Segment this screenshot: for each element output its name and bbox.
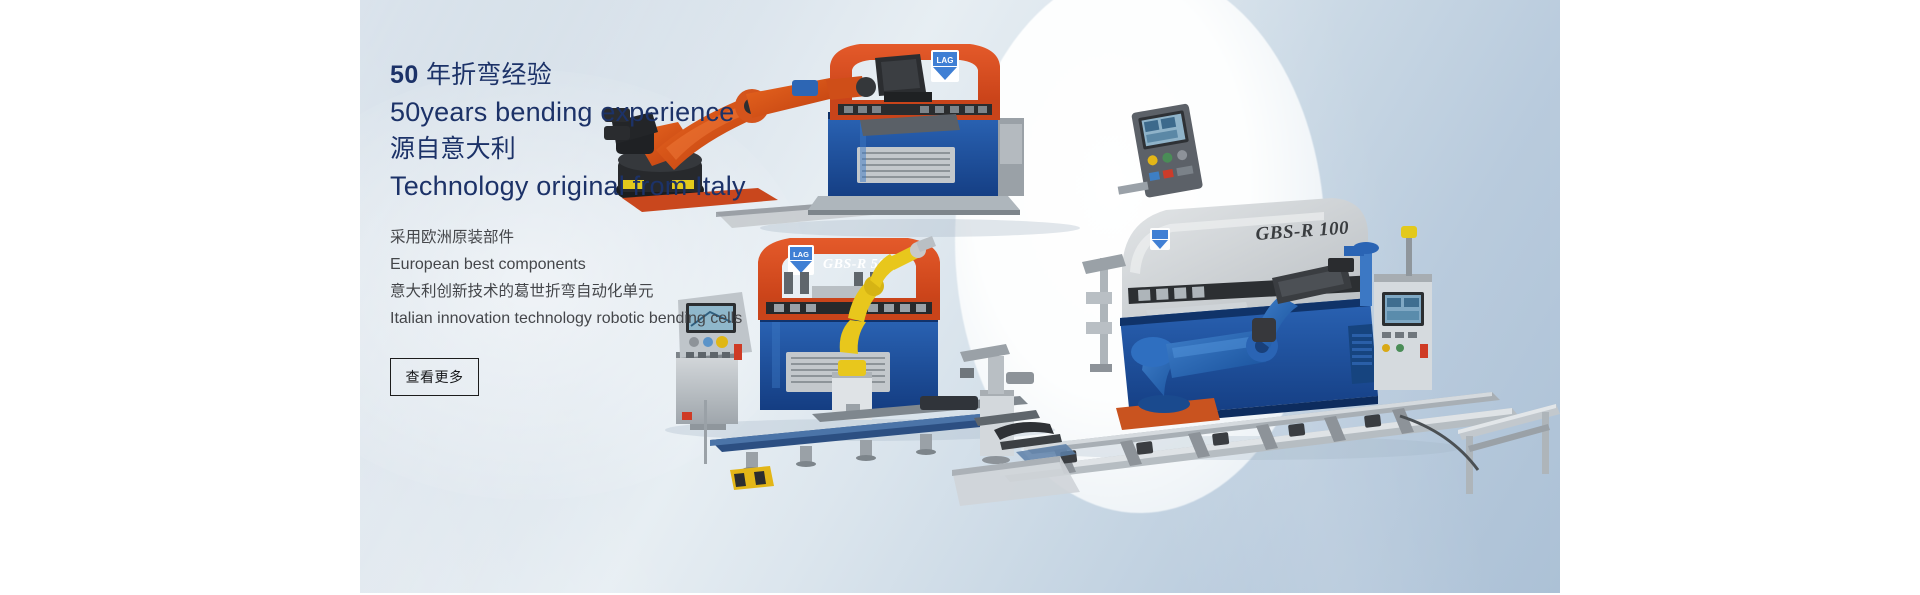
banner-copy: 50 年折弯经验 50years bending experience 源自意大… (390, 0, 950, 593)
headline-line-4: Technology original from Italy (390, 168, 746, 205)
headline-line-2: 50years bending experience (390, 94, 746, 131)
subline-2: European best components (390, 251, 742, 278)
headline-years-number: 50 (390, 61, 419, 89)
headline-line-1-rest: 年折弯经验 (419, 61, 552, 89)
subline-1: 采用欧洲原装部件 (390, 224, 742, 251)
control-pendant-top (1106, 103, 1204, 202)
view-more-button[interactable]: 查看更多 (390, 358, 479, 396)
side-fixture (1082, 254, 1126, 372)
machine-right-group: GBS-R 100 (952, 198, 1560, 506)
headline-line-3: 源自意大利 (390, 131, 746, 168)
screenshot-root: LAG (0, 0, 1920, 595)
subline-block: 采用欧洲原装部件 European best components 意大利创新技… (390, 224, 742, 332)
subline-4: Italian innovation technology robotic be… (390, 305, 742, 332)
subline-3: 意大利创新技术的葛世折弯自动化单元 (390, 278, 742, 305)
control-cabinet-right (1374, 226, 1432, 390)
headline-line-1: 50 年折弯经验 (390, 57, 746, 94)
lag-logo-right (1150, 228, 1170, 250)
headline-block: 50 年折弯经验 50years bending experience 源自意大… (390, 57, 746, 205)
hero-banner: LAG (360, 0, 1560, 593)
